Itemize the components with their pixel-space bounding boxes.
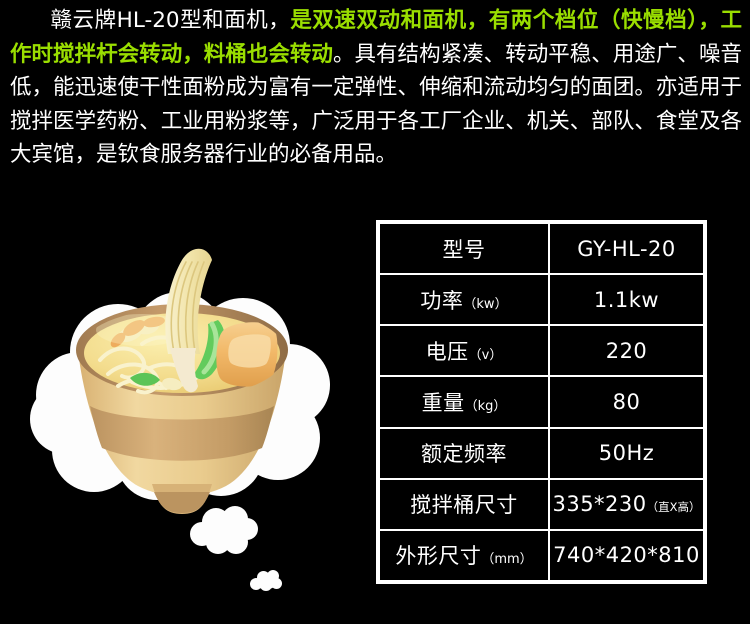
spec-key-unit: （v） (469, 348, 503, 363)
spec-key-cell: 型号 (379, 223, 549, 274)
spec-value-cell: GY-HL-20 (549, 223, 704, 274)
spec-key-unit: （mm） (481, 552, 532, 567)
thought-cloud-medium (190, 506, 258, 554)
spec-key-label: 电压 (426, 340, 469, 364)
spec-key-label: 额定频率 (421, 442, 507, 466)
spec-key-cell: 搅拌桶尺寸 (379, 479, 549, 530)
spec-key-cell: 额定频率 (379, 428, 549, 479)
spec-key-label: 功率 (420, 289, 463, 313)
description-segment-plain-1: 赣云牌HL-20型和面机， (50, 8, 290, 33)
spec-key-unit: （kw） (463, 297, 507, 312)
spec-value-label: 335*230 (552, 492, 646, 516)
cloud-puff (202, 518, 246, 546)
table-row: 功率（kw） 1.1kw (379, 274, 704, 325)
product-description: 赣云牌HL-20型和面机，是双速双动和面机，有两个档位（快慢档），工作时搅拌杆会… (0, 4, 750, 172)
spec-value-label: 220 (606, 339, 648, 363)
spec-key-cell: 电压（v） (379, 325, 549, 376)
spec-key-cell: 重量（kg） (379, 376, 549, 427)
spec-value-cell: 1.1kw (549, 274, 704, 325)
spec-key-cell: 功率（kw） (379, 274, 549, 325)
spec-value-cell: 335*230（直X高） (549, 479, 704, 530)
table-row: 额定频率 50Hz (379, 428, 704, 479)
spec-value-cell: 50Hz (549, 428, 704, 479)
spec-value-cell: 80 (549, 376, 704, 427)
spec-table-element: 型号 GY-HL-20 功率（kw） 1.1kw 电压（v） 220 重量（kg… (378, 222, 705, 582)
product-detail-banner: 赣云牌HL-20型和面机，是双速双动和面机，有两个档位（快慢档），工作时搅拌杆会… (0, 0, 750, 624)
spec-value-label: 80 (613, 390, 641, 414)
table-row: 重量（kg） 80 (379, 376, 704, 427)
spec-table-body: 型号 GY-HL-20 功率（kw） 1.1kw 电压（v） 220 重量（kg… (379, 223, 704, 581)
spec-key-label: 外形尺寸 (395, 544, 481, 568)
cloud-puff (256, 576, 276, 589)
spec-key-unit: （kg） (465, 399, 507, 414)
spec-value-label: 740*420*810 (553, 543, 700, 567)
specification-table: 型号 GY-HL-20 功率（kw） 1.1kw 电压（v） 220 重量（kg… (376, 220, 707, 584)
spec-value-cell: 740*420*810 (549, 530, 704, 581)
spec-key-cell: 外形尺寸（mm） (379, 530, 549, 581)
spec-key-label: 重量 (422, 391, 465, 415)
noodle-bowl-illustration (22, 248, 342, 528)
spec-value-label: GY-HL-20 (577, 237, 676, 261)
table-row: 外形尺寸（mm） 740*420*810 (379, 530, 704, 581)
noodle-bowl-svg (22, 248, 342, 528)
spec-key-label: 型号 (443, 238, 486, 262)
spec-value-label: 50Hz (599, 441, 655, 465)
table-row: 电压（v） 220 (379, 325, 704, 376)
spec-value-cell: 220 (549, 325, 704, 376)
thought-cloud-small (250, 570, 282, 592)
table-row: 搅拌桶尺寸 335*230（直X高） (379, 479, 704, 530)
spec-value-label: 1.1kw (594, 288, 659, 312)
spec-value-note: （直X高） (647, 500, 701, 514)
tofu-block (216, 322, 277, 386)
table-row: 型号 GY-HL-20 (379, 223, 704, 274)
spec-key-label: 搅拌桶尺寸 (410, 493, 518, 517)
